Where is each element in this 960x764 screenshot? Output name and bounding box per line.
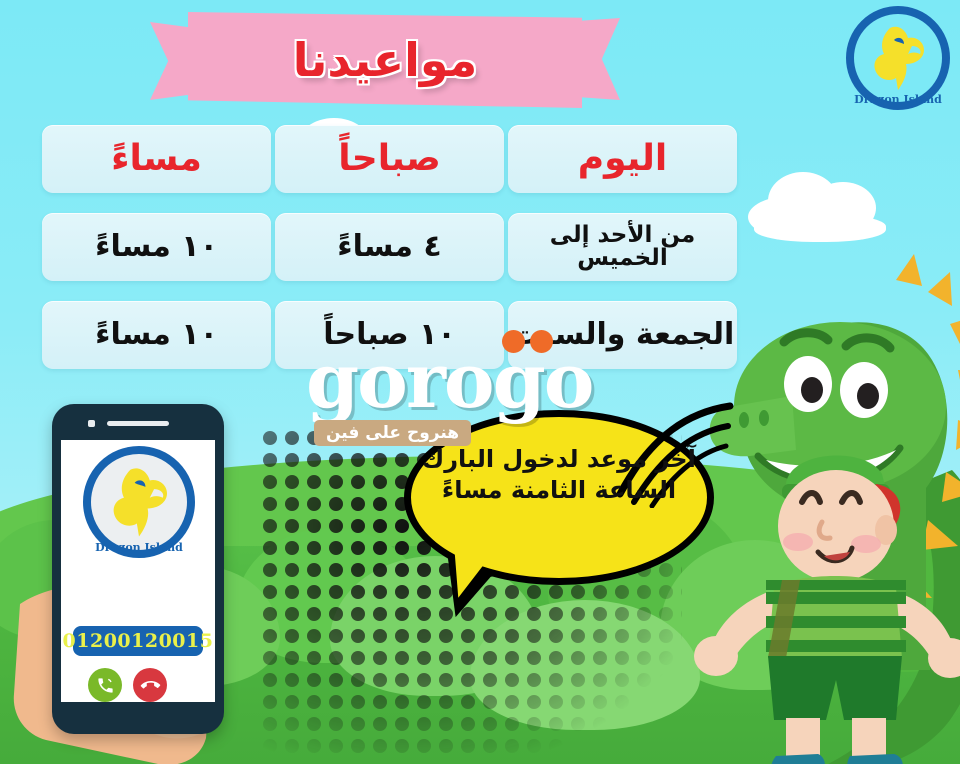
cell-morning: ٤ مساءً: [275, 213, 504, 281]
phone-speaker: [107, 421, 169, 426]
schedule-table: اليوم صباحاً مساءً من الأحد إلى الخميس ٤…: [40, 125, 737, 389]
table-header-row: اليوم صباحاً مساءً: [40, 125, 737, 193]
header-cell-day: اليوم: [508, 125, 737, 193]
header-cell-evening: مساءً: [42, 125, 271, 193]
phone-handset-icon: [96, 676, 115, 695]
phone-hangup-icon: [137, 672, 164, 699]
notice-line-1: آخر موعد لدخول البارك: [422, 444, 696, 475]
notice-line-2: الساعة الثامنة مساءً: [422, 475, 696, 506]
phone-screen: Dragon Island 01200120015: [61, 440, 215, 702]
header-cell-morning: صباحاً: [275, 125, 504, 193]
phone-number-display: 01200120015: [73, 626, 203, 656]
accept-call-button[interactable]: [88, 668, 122, 702]
infographic-canvas: مواعيدنا Dragon Island اليوم صباحاً مساء…: [0, 0, 960, 764]
cell-evening: ١٠ مساءً: [42, 213, 271, 281]
phone-dragon-island-logo: Dragon Island: [83, 446, 195, 558]
page-title: مواعيدنا: [150, 8, 620, 112]
table-row: الجمعة والسبت ١٠ صباحاً ١٠ مساءً: [40, 301, 737, 369]
logo-caption: Dragon Island: [846, 93, 950, 106]
dragon-island-logo: Dragon Island: [846, 6, 950, 110]
cell-evening: ١٠ مساءً: [42, 301, 271, 369]
phone-logo-caption: Dragon Island: [83, 541, 195, 554]
cell-morning: ١٠ صباحاً: [275, 301, 504, 369]
phone-camera: [88, 420, 95, 427]
cell-day: من الأحد إلى الخميس: [508, 213, 737, 281]
table-row: من الأحد إلى الخميس ٤ مساءً ١٠ مساءً: [40, 213, 737, 281]
notice-text: آخر موعد لدخول البارك الساعة الثامنة مسا…: [422, 444, 696, 505]
title-ribbon: مواعيدنا: [150, 8, 620, 116]
phone-mockup: Dragon Island 01200120015: [52, 404, 224, 734]
cell-day: الجمعة والسبت: [508, 301, 737, 369]
decline-call-button[interactable]: [133, 668, 167, 702]
